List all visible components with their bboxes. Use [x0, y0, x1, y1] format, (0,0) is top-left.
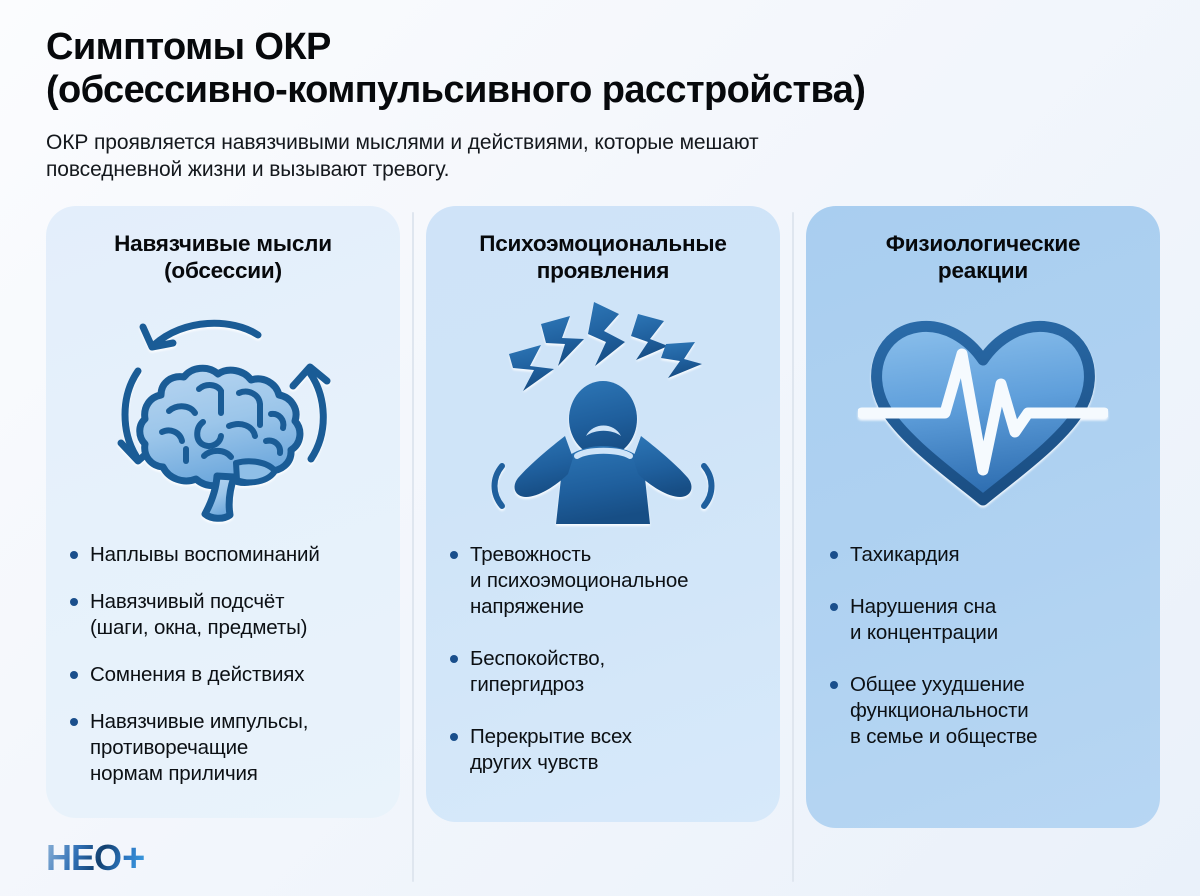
card-psychoemotional[interactable]: Психоэмоциональные проявления	[426, 206, 780, 822]
list-item: Общее ухудшение функциональности в семье…	[828, 672, 1138, 750]
card-physiological[interactable]: Физиологические реакции	[806, 206, 1160, 828]
bullet-list-1: Наплывы воспоминаний Навязчивый подсчёт …	[68, 542, 378, 787]
list-item: Наплывы воспоминаний	[68, 542, 378, 568]
brain-cycle-icon	[68, 288, 378, 538]
list-item: Тревожность и психоэмоциональное напряже…	[448, 542, 758, 620]
header: Симптомы ОКР (обсессивно-компульсивного …	[46, 26, 1160, 184]
list-item: Тахикардия	[828, 542, 1138, 568]
card-title-1: Навязчивые мысли (обсессии)	[68, 230, 378, 286]
heart-pulse-icon	[828, 288, 1138, 538]
card-divider-1	[400, 206, 426, 896]
list-item: Перекрытие всех других чувств	[448, 724, 758, 776]
page-title: Симптомы ОКР (обсессивно-компульсивного …	[46, 26, 1160, 113]
logo-text: НЕО	[46, 840, 121, 876]
list-item: Навязчивый подсчёт (шаги, окна, предметы…	[68, 589, 378, 641]
card-title-3: Физиологические реакции	[828, 230, 1138, 286]
card-slot-3: Физиологические реакции	[806, 206, 1160, 828]
page-subtitle: ОКР проявляется навязчивыми мыслями и де…	[46, 129, 1106, 184]
logo-plus-icon: +	[122, 838, 144, 878]
card-obsessive-thoughts[interactable]: Навязчивые мысли (обсессии)	[46, 206, 400, 818]
list-item: Сомнения в действиях	[68, 662, 378, 688]
list-item: Нарушения сна и концентрации	[828, 594, 1138, 646]
card-divider-2	[780, 206, 806, 896]
card-title-2: Психоэмоциональные проявления	[448, 230, 758, 286]
bullet-list-3: Тахикардия Нарушения сна и концентрации …	[828, 542, 1138, 750]
card-slot-1: Навязчивые мысли (обсессии)	[46, 206, 400, 818]
list-item: Навязчивые импульсы, противоречащие норм…	[68, 709, 378, 787]
footer: НЕО+	[46, 838, 144, 878]
brand-logo[interactable]: НЕО+	[46, 838, 144, 878]
list-item: Беспокойство, гипергидроз	[448, 646, 758, 698]
stressed-person-icon	[448, 288, 758, 538]
card-slot-2: Психоэмоциональные проявления	[426, 206, 780, 822]
bullet-list-2: Тревожность и психоэмоциональное напряже…	[448, 542, 758, 776]
cards-row: Навязчивые мысли (обсессии)	[46, 206, 1160, 896]
infographic-page: Симптомы ОКР (обсессивно-компульсивного …	[0, 0, 1200, 896]
